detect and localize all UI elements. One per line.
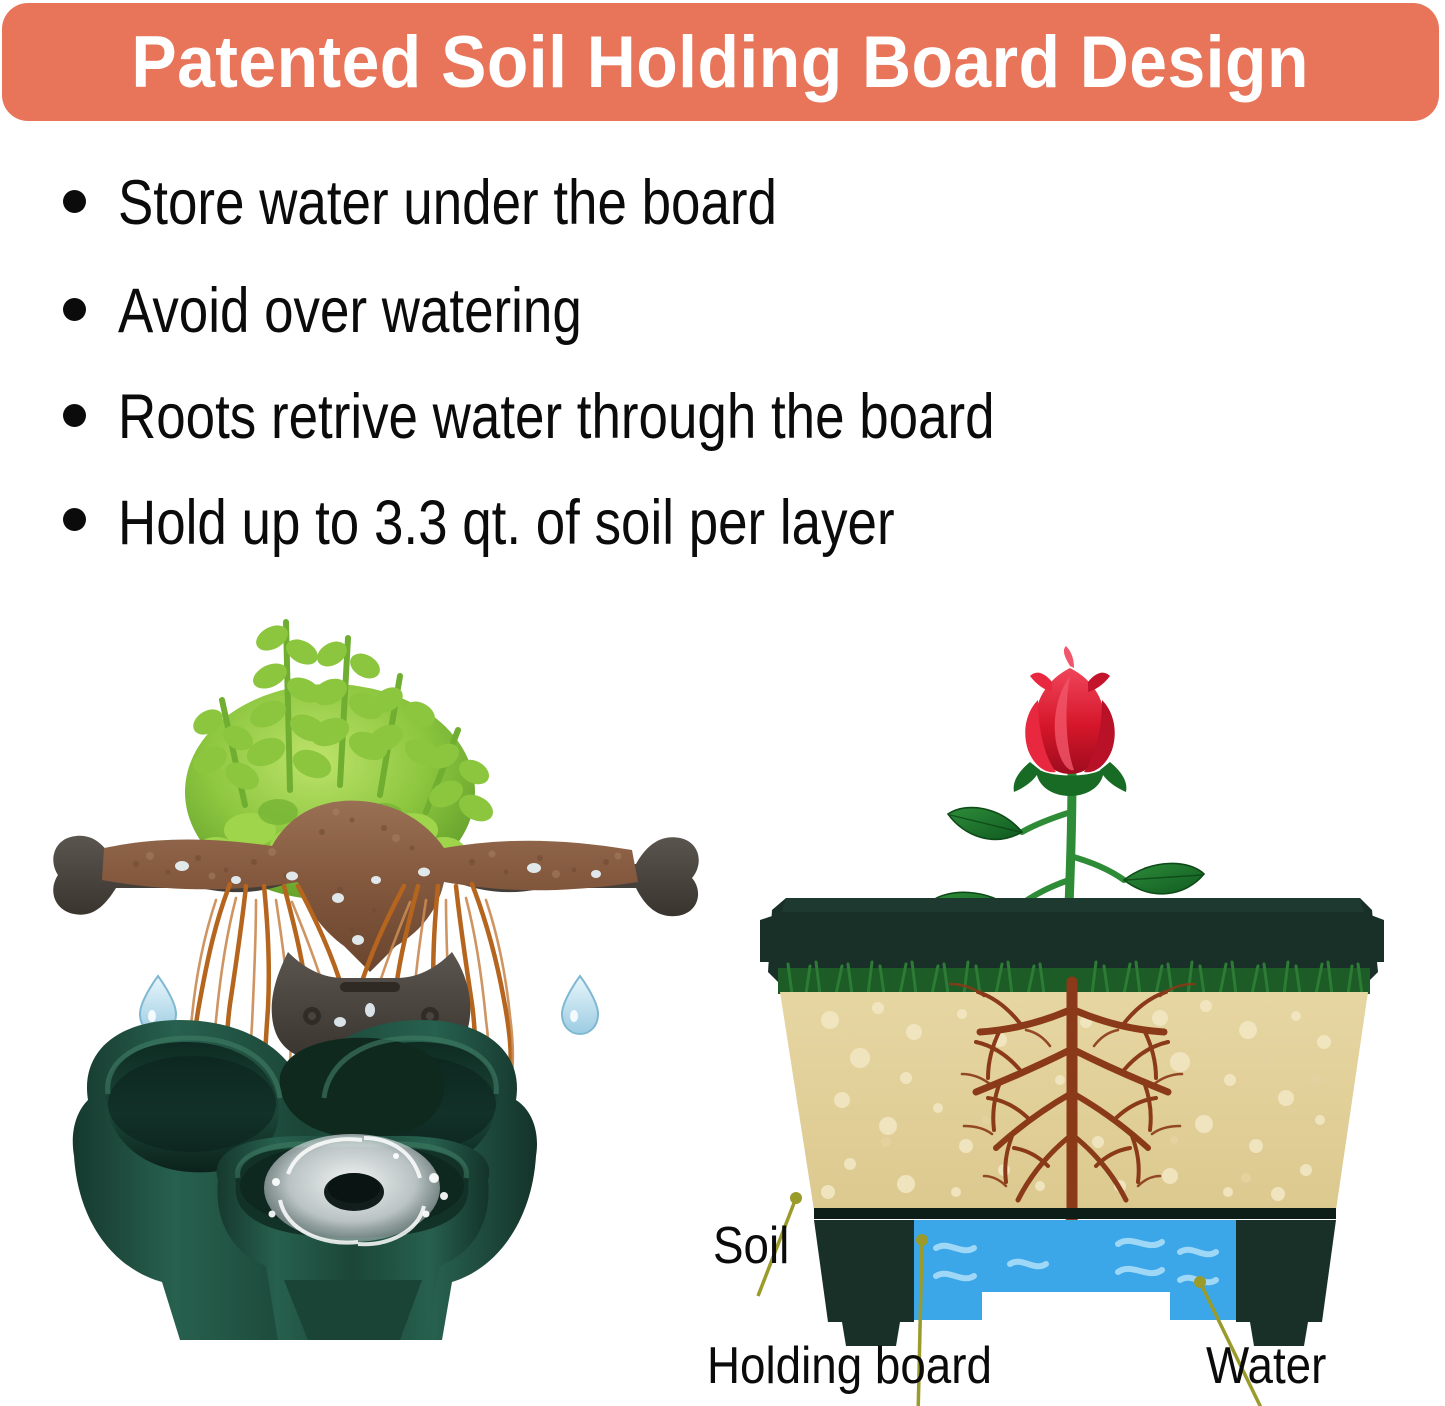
bullet-dot-icon [63,404,86,427]
rose-bloom-icon [1025,646,1115,774]
page-title: Patented Soil Holding Board Design [132,26,1310,99]
bullet-dot-icon [63,508,86,531]
feature-text: Store water under the board [118,172,777,235]
bullet-dot-icon [63,298,86,321]
callout-water: Water [1206,1340,1326,1392]
planter-cross-section-diagram [700,580,1445,1406]
feature-text: Roots retrive water through the board [118,386,995,449]
list-item: Hold up to 3.3 qt. of soil per layer [0,474,1445,582]
feature-text: Hold up to 3.3 qt. of soil per layer [118,492,895,555]
infographic-page: Patented Soil Holding Board Design Store… [0,0,1445,1406]
list-item: Store water under the board [0,150,1445,258]
title-banner: Patented Soil Holding Board Design [2,3,1439,121]
feature-list: Store water under the board Avoid over w… [0,150,1445,582]
feature-text: Avoid over watering [118,280,582,343]
callout-holding-board: Holding board [707,1340,992,1392]
list-item: Roots retrive water through the board [0,366,1445,474]
list-item: Avoid over watering [0,258,1445,366]
bullet-dot-icon [63,190,86,213]
holding-board [814,1208,1336,1219]
callout-soil: Soil [713,1220,789,1272]
stacking-planter-photo [40,580,700,1340]
water-drop-icon [562,976,598,1034]
